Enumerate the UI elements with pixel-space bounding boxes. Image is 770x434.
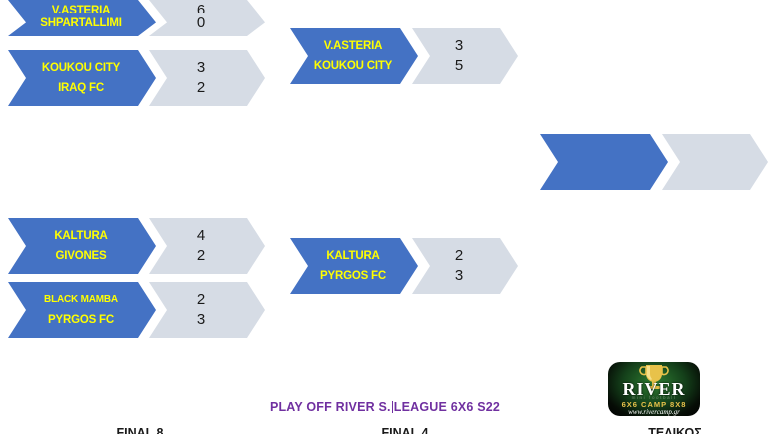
match-r2-m2-teams[interactable]: KALTURA PYRGOS FC bbox=[290, 238, 418, 294]
score-value: 2 bbox=[412, 246, 506, 266]
match-r3-final-scores[interactable] bbox=[662, 134, 768, 190]
match-r2-m1-teams[interactable]: V.ASTERIA KOUKOU CITY bbox=[290, 28, 418, 84]
text-cursor bbox=[392, 401, 393, 413]
match-r1-m4[interactable]: BLACK MAMBA PYRGOS FC 2 3 bbox=[8, 282, 265, 338]
score-value: 3 bbox=[149, 58, 253, 78]
score-value: 3 bbox=[149, 310, 253, 330]
team-name: PYRGOS FC bbox=[48, 310, 114, 330]
match-r3-final[interactable] bbox=[540, 134, 768, 190]
team-name: KALTURA bbox=[326, 246, 379, 266]
score-value: 3 bbox=[412, 266, 506, 286]
match-r2-m1-scores[interactable]: 3 5 bbox=[412, 28, 518, 84]
team-name: V.ASTERIA bbox=[52, 1, 111, 13]
match-r1-m3[interactable]: KALTURA GIVONES 4 2 bbox=[8, 218, 265, 274]
match-r1-m1-scores[interactable]: 6 0 bbox=[149, 0, 265, 36]
round-label-final-4: FINAL 4 bbox=[335, 427, 475, 434]
match-r1-m2-scores[interactable]: 3 2 bbox=[149, 50, 265, 106]
score-value: 3 bbox=[412, 36, 506, 56]
team-name: GIVONES bbox=[55, 246, 106, 266]
match-r1-m3-scores[interactable]: 4 2 bbox=[149, 218, 265, 274]
match-r1-m3-teams[interactable]: KALTURA GIVONES bbox=[8, 218, 156, 274]
team-name: SHPARTALLIMI bbox=[40, 13, 122, 33]
match-r1-m2-teams[interactable]: KOUKOU CITY IRAQ FC bbox=[8, 50, 156, 106]
deck-title-before: PLAY OFF RIVER S. bbox=[270, 400, 391, 414]
score-value: 4 bbox=[149, 226, 253, 246]
deck-title-after: LEAGUE 6X6 S22 bbox=[394, 400, 500, 414]
team-name: BLACK MAMBA bbox=[44, 290, 118, 310]
team-name: IRAQ FC bbox=[58, 78, 104, 98]
team-name: KOUKOU CITY bbox=[314, 56, 392, 76]
team-name: KALTURA bbox=[54, 226, 107, 246]
match-r1-m4-scores[interactable]: 2 3 bbox=[149, 282, 265, 338]
match-r1-m2[interactable]: KOUKOU CITY IRAQ FC 3 2 bbox=[8, 50, 265, 106]
round-label-telikos: ΤΕΛΙΚΟΣ bbox=[605, 427, 745, 434]
team-name: V.ASTERIA bbox=[324, 36, 383, 56]
score-value: 2 bbox=[149, 290, 253, 310]
team-name: PYRGOS FC bbox=[320, 266, 386, 286]
score-value: 2 bbox=[149, 78, 253, 98]
score-value: 6 bbox=[149, 1, 253, 13]
round-label-final-8: FINAL 8 bbox=[70, 427, 210, 434]
river-camp-logo: RIVER mini football 6X6 CAMP 8X8 www.riv… bbox=[608, 362, 700, 416]
match-r1-m4-teams[interactable]: BLACK MAMBA PYRGOS FC bbox=[8, 282, 156, 338]
score-value: 2 bbox=[149, 246, 253, 266]
match-r3-final-teams[interactable] bbox=[540, 134, 668, 190]
match-r1-m1-teams[interactable]: V.ASTERIA SHPARTALLIMI bbox=[8, 0, 156, 36]
match-r2-m2[interactable]: KALTURA PYRGOS FC 2 3 bbox=[290, 238, 518, 294]
match-r1-m1[interactable]: V.ASTERIA SHPARTALLIMI 6 0 bbox=[8, 0, 265, 36]
match-r2-m1[interactable]: V.ASTERIA KOUKOU CITY 3 5 bbox=[290, 28, 518, 84]
team-name: KOUKOU CITY bbox=[42, 58, 120, 78]
score-value: 5 bbox=[412, 56, 506, 76]
logo-url: www.rivercamp.gr bbox=[608, 408, 700, 416]
score-value: 0 bbox=[149, 13, 253, 33]
match-r2-m2-scores[interactable]: 2 3 bbox=[412, 238, 518, 294]
